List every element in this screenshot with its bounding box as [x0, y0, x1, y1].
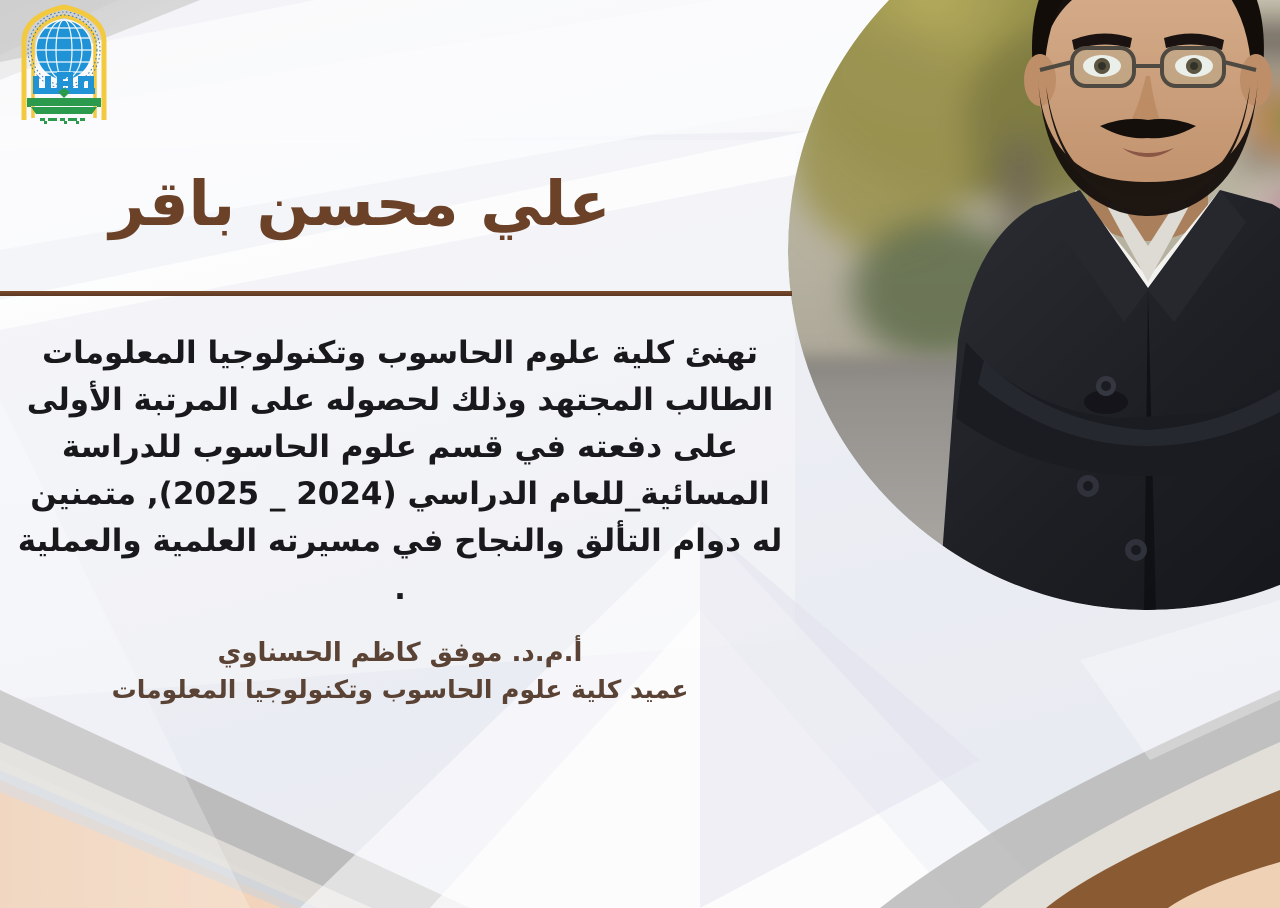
student-photo — [788, 0, 1280, 610]
student-name-title: علي محسن باقر — [0, 168, 790, 239]
congratulation-poster: علي محسن باقر تهنئ كلية علوم الحاسوب وتك… — [0, 0, 1280, 908]
signature-name: أ.م.د. موفق كاظم الحسناوي — [0, 636, 800, 671]
student-photo-illustration — [788, 0, 1280, 610]
signature-block: أ.م.د. موفق كاظم الحسناوي عميد كلية علوم… — [0, 636, 800, 707]
congratulation-paragraph: تهنئ كلية علوم الحاسوب وتكنولوجيا المعلو… — [0, 330, 800, 613]
body-block: تهنئ كلية علوم الحاسوب وتكنولوجيا المعلو… — [0, 330, 800, 613]
title-divider — [0, 291, 792, 296]
signature-role: عميد كلية علوم الحاسوب وتكنولوجيا المعلو… — [0, 673, 800, 707]
university-logo — [12, 2, 116, 128]
university-of-karbala-logo-icon — [12, 2, 116, 128]
title-block: علي محسن باقر — [0, 168, 790, 239]
